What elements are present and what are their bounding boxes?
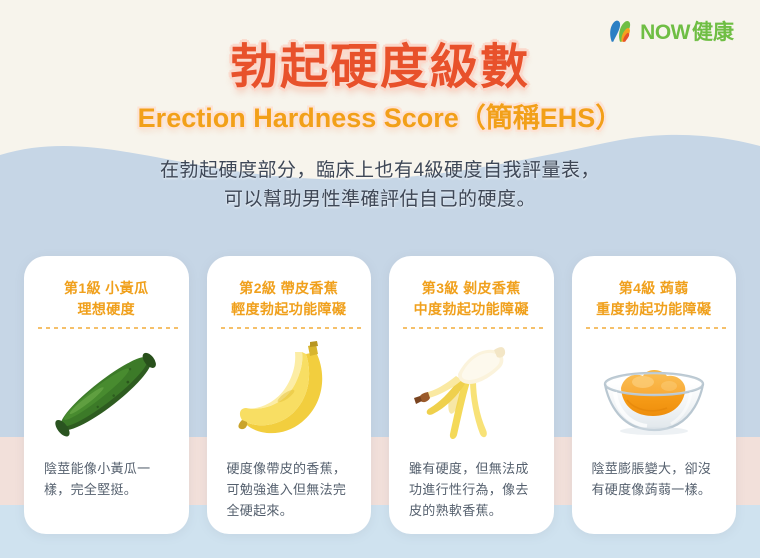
lead-paragraph: 在勃起硬度部分，臨床上也有4級硬度自我評量表， 可以幫助男性準確評估自己的硬度。 bbox=[0, 156, 760, 215]
ehs-level-cards: 第1級 小黃瓜 理想硬度 陰莖能像小黃瓜一樣，完全堅挺。 bbox=[24, 256, 736, 534]
card-level-2[interactable]: 第2級 帶皮香蕉 輕度勃起功能障礙 硬度像帶皮的香蕉，可勉強進入但無法完全硬起來… bbox=[207, 256, 372, 534]
card-level-4[interactable]: 第4級 蒟蒻 重度勃起功能障礙 bbox=[572, 256, 737, 534]
banana-icon bbox=[224, 338, 354, 450]
card-3-artwork bbox=[403, 329, 540, 458]
card-4-title-line1: 第4級 蒟蒻 bbox=[619, 280, 689, 296]
peeled-banana-icon bbox=[406, 334, 536, 454]
konjac-bowl-icon bbox=[589, 338, 719, 450]
card-3-title-line2: 中度勃起功能障礙 bbox=[414, 301, 529, 317]
card-1-artwork bbox=[38, 329, 175, 458]
card-level-3[interactable]: 第3級 剝皮香蕉 中度勃起功能障礙 雖有硬度，但無法成功進行性行為，像去皮的熟 bbox=[389, 256, 554, 534]
logo-name-zh: 健康 bbox=[692, 22, 734, 43]
logo-name-en: NOW bbox=[640, 22, 690, 43]
card-2-title-line2: 輕度勃起功能障礙 bbox=[231, 301, 346, 317]
card-4-artwork bbox=[586, 329, 723, 458]
card-3-title-line1: 第3級 剝皮香蕉 bbox=[422, 280, 521, 296]
card-2-body: 硬度像帶皮的香蕉，可勉強進入但無法完全硬起來。 bbox=[221, 458, 358, 534]
now-health-n-logo-icon bbox=[605, 17, 635, 47]
brand-logo[interactable]: NOW 健康 bbox=[605, 17, 734, 47]
page-title: 勃起硬度級數 bbox=[0, 42, 760, 94]
lead-line-1: 在勃起硬度部分，臨床上也有4級硬度自我評量表， bbox=[160, 160, 600, 181]
card-4-title: 第4級 蒟蒻 重度勃起功能障礙 bbox=[586, 278, 723, 320]
card-2-artwork bbox=[221, 329, 358, 458]
card-3-title: 第3級 剝皮香蕉 中度勃起功能障礙 bbox=[403, 278, 540, 320]
card-1-title: 第1級 小黃瓜 理想硬度 bbox=[38, 278, 175, 320]
card-level-1[interactable]: 第1級 小黃瓜 理想硬度 陰莖能像小黃瓜一樣，完全堅挺。 bbox=[24, 256, 189, 534]
card-4-title-line2: 重度勃起功能障礙 bbox=[596, 301, 711, 317]
card-4-body: 陰莖膨脹變大，卻沒有硬度像蒟蒻一樣。 bbox=[586, 458, 723, 534]
card-2-title-line1: 第2級 帶皮香蕉 bbox=[239, 280, 338, 296]
card-1-title-line2: 理想硬度 bbox=[77, 301, 135, 317]
card-2-title: 第2級 帶皮香蕉 輕度勃起功能障礙 bbox=[221, 278, 358, 320]
card-1-body: 陰莖能像小黃瓜一樣，完全堅挺。 bbox=[38, 458, 175, 534]
card-3-body: 雖有硬度，但無法成功進行性行為，像去皮的熟軟香蕉。 bbox=[403, 458, 540, 534]
cucumber-icon bbox=[38, 338, 175, 450]
card-1-title-line1: 第1級 小黃瓜 bbox=[64, 280, 148, 296]
logo-wordmark: NOW 健康 bbox=[640, 22, 734, 43]
lead-line-2: 可以幫助男性準確評估自己的硬度。 bbox=[224, 189, 536, 210]
page-subtitle: Erection Hardness Score（簡稱EHS） bbox=[0, 104, 760, 134]
